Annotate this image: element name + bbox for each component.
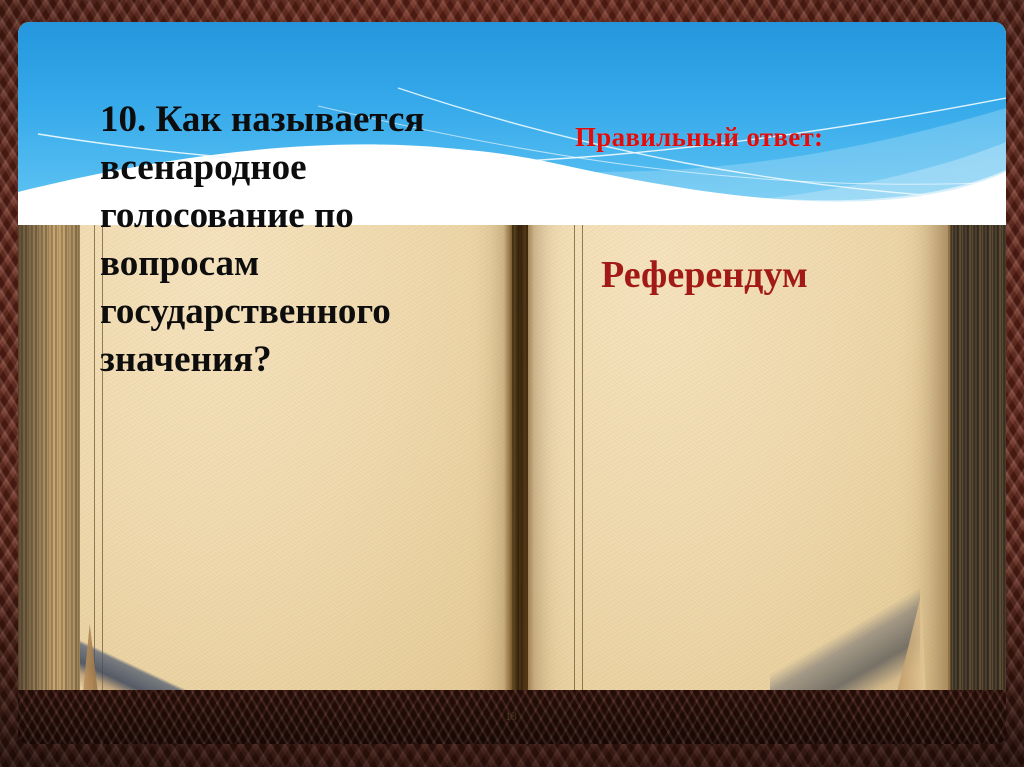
page-number: 13 bbox=[505, 709, 517, 724]
slide-canvas: 13 bbox=[0, 0, 1024, 767]
answer-label: Правильный ответ: bbox=[575, 122, 823, 153]
answer-value: Референдум bbox=[601, 253, 808, 297]
question-text: 10. Как называется всенародное голосован… bbox=[100, 96, 500, 385]
